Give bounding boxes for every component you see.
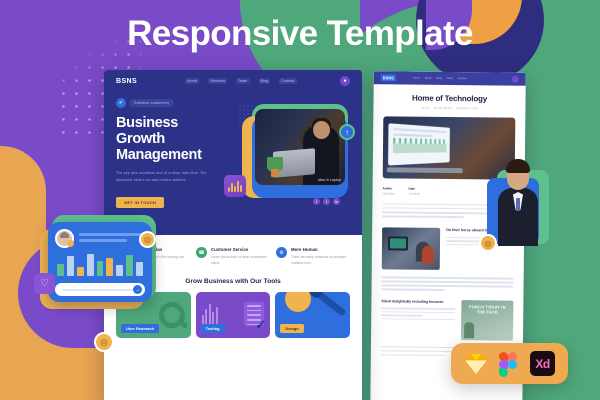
get-in-touch-button[interactable]: GET IN TOUCH xyxy=(116,197,164,208)
meta-value: 12 March xyxy=(408,192,420,196)
laptop-screen xyxy=(388,123,450,165)
mockup-hero-body: ✔ Satisfied customers Business Growth Ma… xyxy=(104,92,362,209)
avatar[interactable]: ● xyxy=(340,76,350,86)
social-links: f t in xyxy=(313,198,340,205)
person-shape xyxy=(422,246,434,264)
card-name-placeholder xyxy=(79,233,145,245)
person-tie xyxy=(516,198,520,211)
tool-label: User Research xyxy=(121,324,159,333)
coin-badge-icon: ◎ xyxy=(479,234,497,252)
mockup-navbar: BSNS About Services Team Blog Contact ● xyxy=(104,70,362,92)
customer-service-icon: ☎ xyxy=(196,247,207,258)
feature-desc: Lorem ipsum dolor sit amet consectetur a… xyxy=(211,254,270,266)
badge-label: Satisfied customers xyxy=(129,99,174,107)
hero-copy-column: ✔ Satisfied customers Business Growth Ma… xyxy=(116,98,224,209)
meta-date: Date 12 March xyxy=(408,186,420,198)
article-block-heading: Silent delightedly including because xyxy=(381,299,455,305)
nav-item-blog[interactable]: Blog xyxy=(259,78,271,84)
tool-label: Design xyxy=(280,324,303,333)
poster-text: PUNCH TODAY IN THE FACE xyxy=(467,304,507,314)
nav-item-contact[interactable]: Contact xyxy=(279,78,296,84)
bar-chart-icon xyxy=(202,303,218,325)
status-badge xyxy=(67,240,74,247)
floating-ui-card: → ◎ ♡ xyxy=(34,219,156,311)
photo-plant xyxy=(267,157,283,177)
article-nav-work[interactable]: Work xyxy=(447,77,453,80)
card-search-input[interactable]: → xyxy=(55,283,145,296)
tool-card-design[interactable]: Design xyxy=(275,292,350,338)
article-section-text xyxy=(372,270,524,292)
tool-label: Testing xyxy=(201,324,225,333)
article-thumbnail xyxy=(382,228,440,271)
check-icon: ✔ xyxy=(116,98,126,108)
mockup-logo[interactable]: BSNS xyxy=(116,78,137,85)
nav-item-services[interactable]: Services xyxy=(208,78,227,84)
meta-author: Author Jane Doe xyxy=(382,185,394,197)
magnifier-icon xyxy=(159,302,185,328)
paintbrush-icon xyxy=(315,292,346,317)
laptop-base xyxy=(387,167,463,173)
satisfied-customers-badge: ✔ Satisfied customers xyxy=(116,98,224,108)
checkmark-icon: ✓ xyxy=(255,318,266,331)
more-human-icon: ⚙ xyxy=(276,247,287,258)
twitter-icon[interactable]: t xyxy=(323,198,330,205)
monitor-icon xyxy=(388,237,408,251)
instagram-icon[interactable]: in xyxy=(333,198,340,205)
card-profile-row xyxy=(55,229,145,248)
person-cutout: ◎ xyxy=(487,148,549,246)
hero-visual-column: Man in Laptop ↑ f t in xyxy=(230,98,350,209)
card-bar-chart xyxy=(57,254,143,276)
feature-card-customer-service[interactable]: ☎ Customer Service Lorem ipsum dolor sit… xyxy=(196,247,270,266)
feature-title: More Human xyxy=(291,247,350,252)
article-nav-items: Home About Blog Work Contact xyxy=(413,77,467,81)
poster-headline: Responsive Template xyxy=(0,14,600,54)
photo-caption: Man in Laptop xyxy=(318,178,341,182)
hero-photo: Man in Laptop xyxy=(255,109,345,185)
mockup-nav-items: About Services Team Blog Contact xyxy=(185,78,297,84)
nav-item-about[interactable]: About xyxy=(185,78,199,84)
article-nav-contact[interactable]: Contact xyxy=(458,77,467,80)
facebook-icon[interactable]: f xyxy=(313,198,320,205)
coin-badge-icon: ◎ xyxy=(94,332,114,352)
hero-title: Business Growth Management xyxy=(116,115,224,164)
article-logo[interactable]: BSNS xyxy=(381,74,396,81)
avatar[interactable] xyxy=(512,76,519,83)
tool-card-testing[interactable]: ✓ Testing xyxy=(196,292,271,338)
card-blue-panel: → ◎ xyxy=(48,222,152,302)
search-placeholder xyxy=(62,289,133,291)
sun-shape-decoration xyxy=(285,292,311,312)
figma-icon[interactable] xyxy=(499,352,519,376)
article-block-body xyxy=(381,308,455,321)
chart-tile-icon xyxy=(224,175,246,197)
sketch-icon[interactable] xyxy=(464,352,488,376)
heart-icon[interactable]: ♡ xyxy=(34,273,55,294)
article-block-two: Silent delightedly including because PUN… xyxy=(371,292,523,341)
screen-chart xyxy=(393,138,447,153)
search-submit-icon[interactable]: → xyxy=(133,285,142,294)
arrow-up-icon[interactable]: ↑ xyxy=(339,124,355,140)
hero-paragraph: The sky was cloudless and of a deep dark… xyxy=(116,170,224,184)
nav-item-team[interactable]: Team xyxy=(236,78,249,84)
photo-person-head xyxy=(313,121,330,139)
mockup-hero-section: BSNS About Services Team Blog Contact ● … xyxy=(104,70,362,235)
feature-card-more-human[interactable]: ⚙ More Human There are many variations o… xyxy=(276,247,350,266)
person-hair xyxy=(506,159,530,173)
article-nav-blog[interactable]: Blog xyxy=(437,77,442,80)
xd-icon[interactable]: Xd xyxy=(530,351,555,376)
meta-value: Jane Doe xyxy=(383,191,395,195)
poster-plant xyxy=(464,322,474,338)
poster-photo: PUNCH TODAY IN THE FACE xyxy=(461,300,513,341)
poster-canvas: Responsive Template BSNS About Services … xyxy=(0,0,600,400)
xd-icon-label: Xd xyxy=(530,351,555,376)
article-nav-home[interactable]: Home xyxy=(413,77,420,80)
feature-title: Customer Service xyxy=(211,247,270,252)
feature-desc: There are many variations of passages av… xyxy=(291,254,350,266)
article-nav-about[interactable]: About xyxy=(425,77,432,80)
software-badges: Xd xyxy=(451,343,568,384)
avatar xyxy=(55,229,74,248)
article-title: Home of Technology xyxy=(373,84,525,107)
coin-badge-icon: ◎ xyxy=(139,231,156,248)
